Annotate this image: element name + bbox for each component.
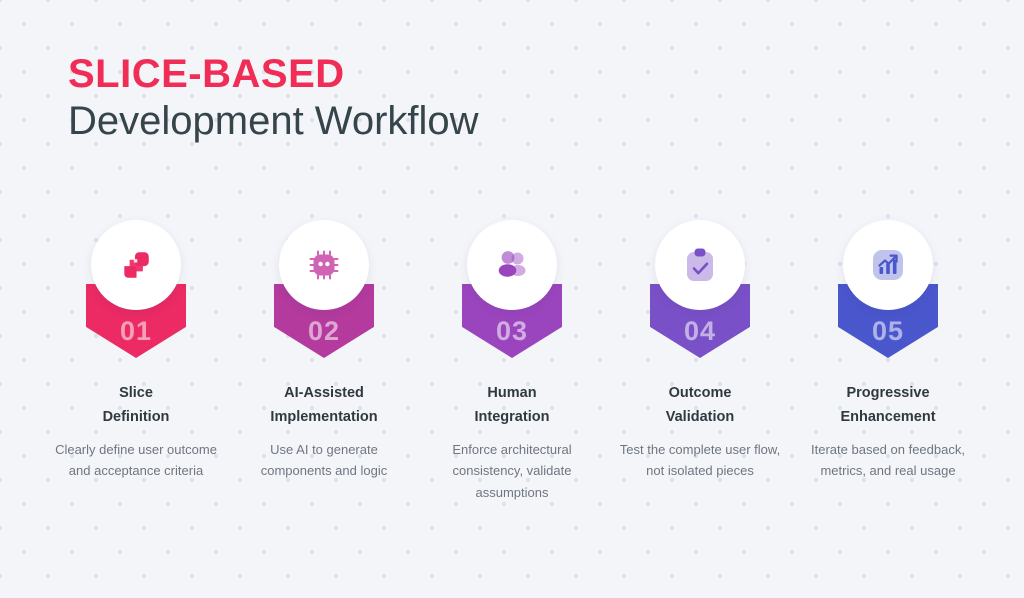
workflow-steps-row: 01Slice DefinitionClearly define user ou… — [0, 206, 1024, 504]
step-badge: 02 — [272, 206, 376, 358]
step-description: Clearly define user outcome and acceptan… — [43, 439, 229, 482]
step-description: Iterate based on feedback, metrics, and … — [795, 439, 981, 482]
growth-chart-icon — [872, 249, 904, 281]
page-title: SLICE-BASED Development Workflow — [68, 52, 479, 146]
workflow-step: 05Progressive EnhancementIterate based o… — [794, 206, 982, 482]
step-label: AI-Assisted Implementation — [270, 382, 377, 430]
workflow-step: 03Human IntegrationEnforce architectural… — [418, 206, 606, 504]
step-label: Human Integration — [475, 382, 550, 430]
title-line-primary: SLICE-BASED — [68, 52, 479, 97]
ai-chip-icon — [308, 249, 340, 281]
clipboard-check-icon — [685, 248, 715, 282]
step-number: 03 — [460, 316, 564, 347]
step-description: Enforce architectural consistency, valid… — [419, 439, 605, 504]
step-icon-circle — [467, 220, 557, 310]
step-number: 01 — [84, 316, 188, 347]
step-label: Progressive Enhancement — [840, 382, 935, 430]
step-number: 02 — [272, 316, 376, 347]
step-badge: 04 — [648, 206, 752, 358]
step-description: Use AI to generate components and logic — [231, 439, 417, 482]
users-icon — [495, 249, 529, 281]
step-badge: 05 — [836, 206, 940, 358]
step-label: Outcome Validation — [666, 382, 735, 430]
step-icon-circle — [843, 220, 933, 310]
step-icon-circle — [91, 220, 181, 310]
step-badge: 01 — [84, 206, 188, 358]
workflow-step: 01Slice DefinitionClearly define user ou… — [42, 206, 230, 482]
step-number: 04 — [648, 316, 752, 347]
step-badge: 03 — [460, 206, 564, 358]
infographic-page: SLICE-BASED Development Workflow 01Slice… — [0, 0, 1024, 598]
layers-icon — [119, 248, 153, 282]
step-label: Slice Definition — [103, 382, 170, 430]
workflow-step: 04Outcome ValidationTest the complete us… — [606, 206, 794, 482]
step-icon-circle — [279, 220, 369, 310]
step-description: Test the complete user flow, not isolate… — [607, 439, 793, 482]
workflow-step: 02AI-Assisted ImplementationUse AI to ge… — [230, 206, 418, 482]
title-line-secondary: Development Workflow — [68, 97, 479, 146]
step-number: 05 — [836, 316, 940, 347]
step-icon-circle — [655, 220, 745, 310]
